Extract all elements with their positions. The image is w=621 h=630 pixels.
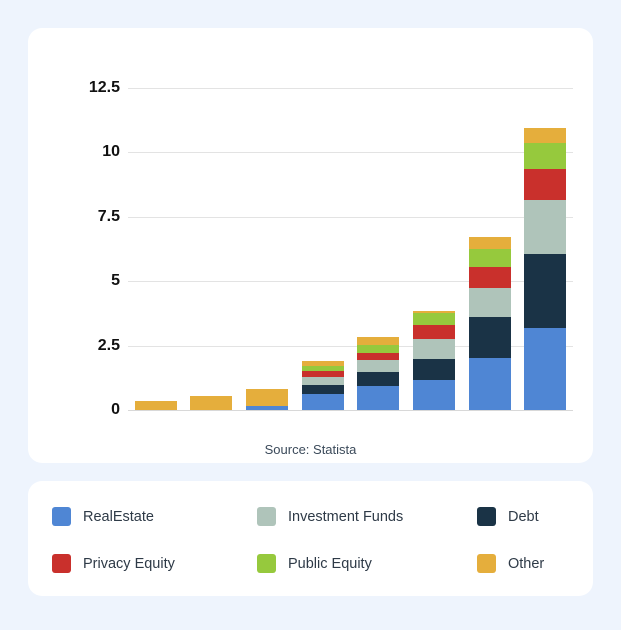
bar-stack[interactable] xyxy=(524,128,566,410)
y-axis-tick-label: 7.5 xyxy=(62,209,120,225)
bar-segment[interactable] xyxy=(469,317,511,358)
bar-segment[interactable] xyxy=(135,401,177,410)
bar-segment[interactable] xyxy=(469,267,511,288)
bar-segment[interactable] xyxy=(469,249,511,267)
legend-label: Other xyxy=(508,556,544,572)
bar-stack[interactable] xyxy=(413,311,455,410)
bar-segment[interactable] xyxy=(524,143,566,169)
bar-segment[interactable] xyxy=(246,406,288,410)
bar-segment[interactable] xyxy=(413,359,455,381)
page-root: 12.5107.552.50 Source: Statista RealEsta… xyxy=(0,0,621,630)
bar-segment[interactable] xyxy=(469,288,511,318)
legend-item[interactable]: Public Equity xyxy=(257,554,477,573)
bar-segment[interactable] xyxy=(302,394,344,410)
bar-segment[interactable] xyxy=(524,200,566,254)
legend-grid: RealEstateInvestment FundsDebtPrivacy Eq… xyxy=(52,507,593,573)
source-caption: Source: Statista xyxy=(28,442,593,457)
bar-stack[interactable] xyxy=(246,389,288,410)
plot-wrapper: 12.5107.552.50 xyxy=(28,28,593,428)
legend-item[interactable]: Investment Funds xyxy=(257,507,477,526)
bar-segment[interactable] xyxy=(302,385,344,394)
bar-segment[interactable] xyxy=(524,169,566,200)
legend-swatch xyxy=(52,507,71,526)
bar-segment[interactable] xyxy=(413,325,455,339)
legend-item[interactable]: Other xyxy=(477,554,593,573)
legend-swatch xyxy=(477,554,496,573)
y-axis-tick-label: 12.5 xyxy=(62,80,120,96)
bar-segment[interactable] xyxy=(413,339,455,359)
bar-stack[interactable] xyxy=(135,401,177,410)
bar-segment[interactable] xyxy=(524,254,566,327)
bar-segment[interactable] xyxy=(413,313,455,325)
legend-label: Investment Funds xyxy=(288,509,403,525)
bar-segment[interactable] xyxy=(190,396,232,410)
bar-segment[interactable] xyxy=(524,328,566,410)
bar-stack[interactable] xyxy=(357,337,399,410)
bar-segment[interactable] xyxy=(469,358,511,410)
bar-segment[interactable] xyxy=(469,237,511,249)
legend-swatch xyxy=(477,507,496,526)
bars-layer xyxy=(128,88,573,410)
bar-segment[interactable] xyxy=(357,337,399,345)
bar-segment[interactable] xyxy=(357,372,399,386)
chart-card: 12.5107.552.50 Source: Statista xyxy=(28,28,593,463)
gridline xyxy=(128,410,573,411)
bar-segment[interactable] xyxy=(357,353,399,361)
legend-item[interactable]: Privacy Equity xyxy=(52,554,257,573)
plot-area xyxy=(128,88,573,410)
legend-item[interactable]: Debt xyxy=(477,507,593,526)
bar-stack[interactable] xyxy=(302,361,344,410)
legend-label: Debt xyxy=(508,509,539,525)
bar-segment[interactable] xyxy=(246,389,288,405)
legend-label: Public Equity xyxy=(288,556,372,572)
legend-swatch xyxy=(257,554,276,573)
bar-segment[interactable] xyxy=(524,128,566,143)
bar-segment[interactable] xyxy=(357,345,399,353)
y-axis-tick-label: 10 xyxy=(62,144,120,160)
legend-swatch xyxy=(257,507,276,526)
legend-label: Privacy Equity xyxy=(83,556,175,572)
bar-segment[interactable] xyxy=(413,380,455,410)
bar-stack[interactable] xyxy=(190,396,232,410)
bar-segment[interactable] xyxy=(302,377,344,385)
legend-item[interactable]: RealEstate xyxy=(52,507,257,526)
bar-segment[interactable] xyxy=(357,386,399,410)
legend-label: RealEstate xyxy=(83,509,154,525)
bar-segment[interactable] xyxy=(357,360,399,372)
bar-stack[interactable] xyxy=(469,237,511,410)
y-axis-tick-label: 5 xyxy=(62,273,120,289)
y-axis-tick-label: 0 xyxy=(62,402,120,418)
y-axis-tick-label: 2.5 xyxy=(62,338,120,354)
legend-card: RealEstateInvestment FundsDebtPrivacy Eq… xyxy=(28,481,593,596)
y-axis-tick-labels: 12.5107.552.50 xyxy=(28,28,120,428)
legend-swatch xyxy=(52,554,71,573)
